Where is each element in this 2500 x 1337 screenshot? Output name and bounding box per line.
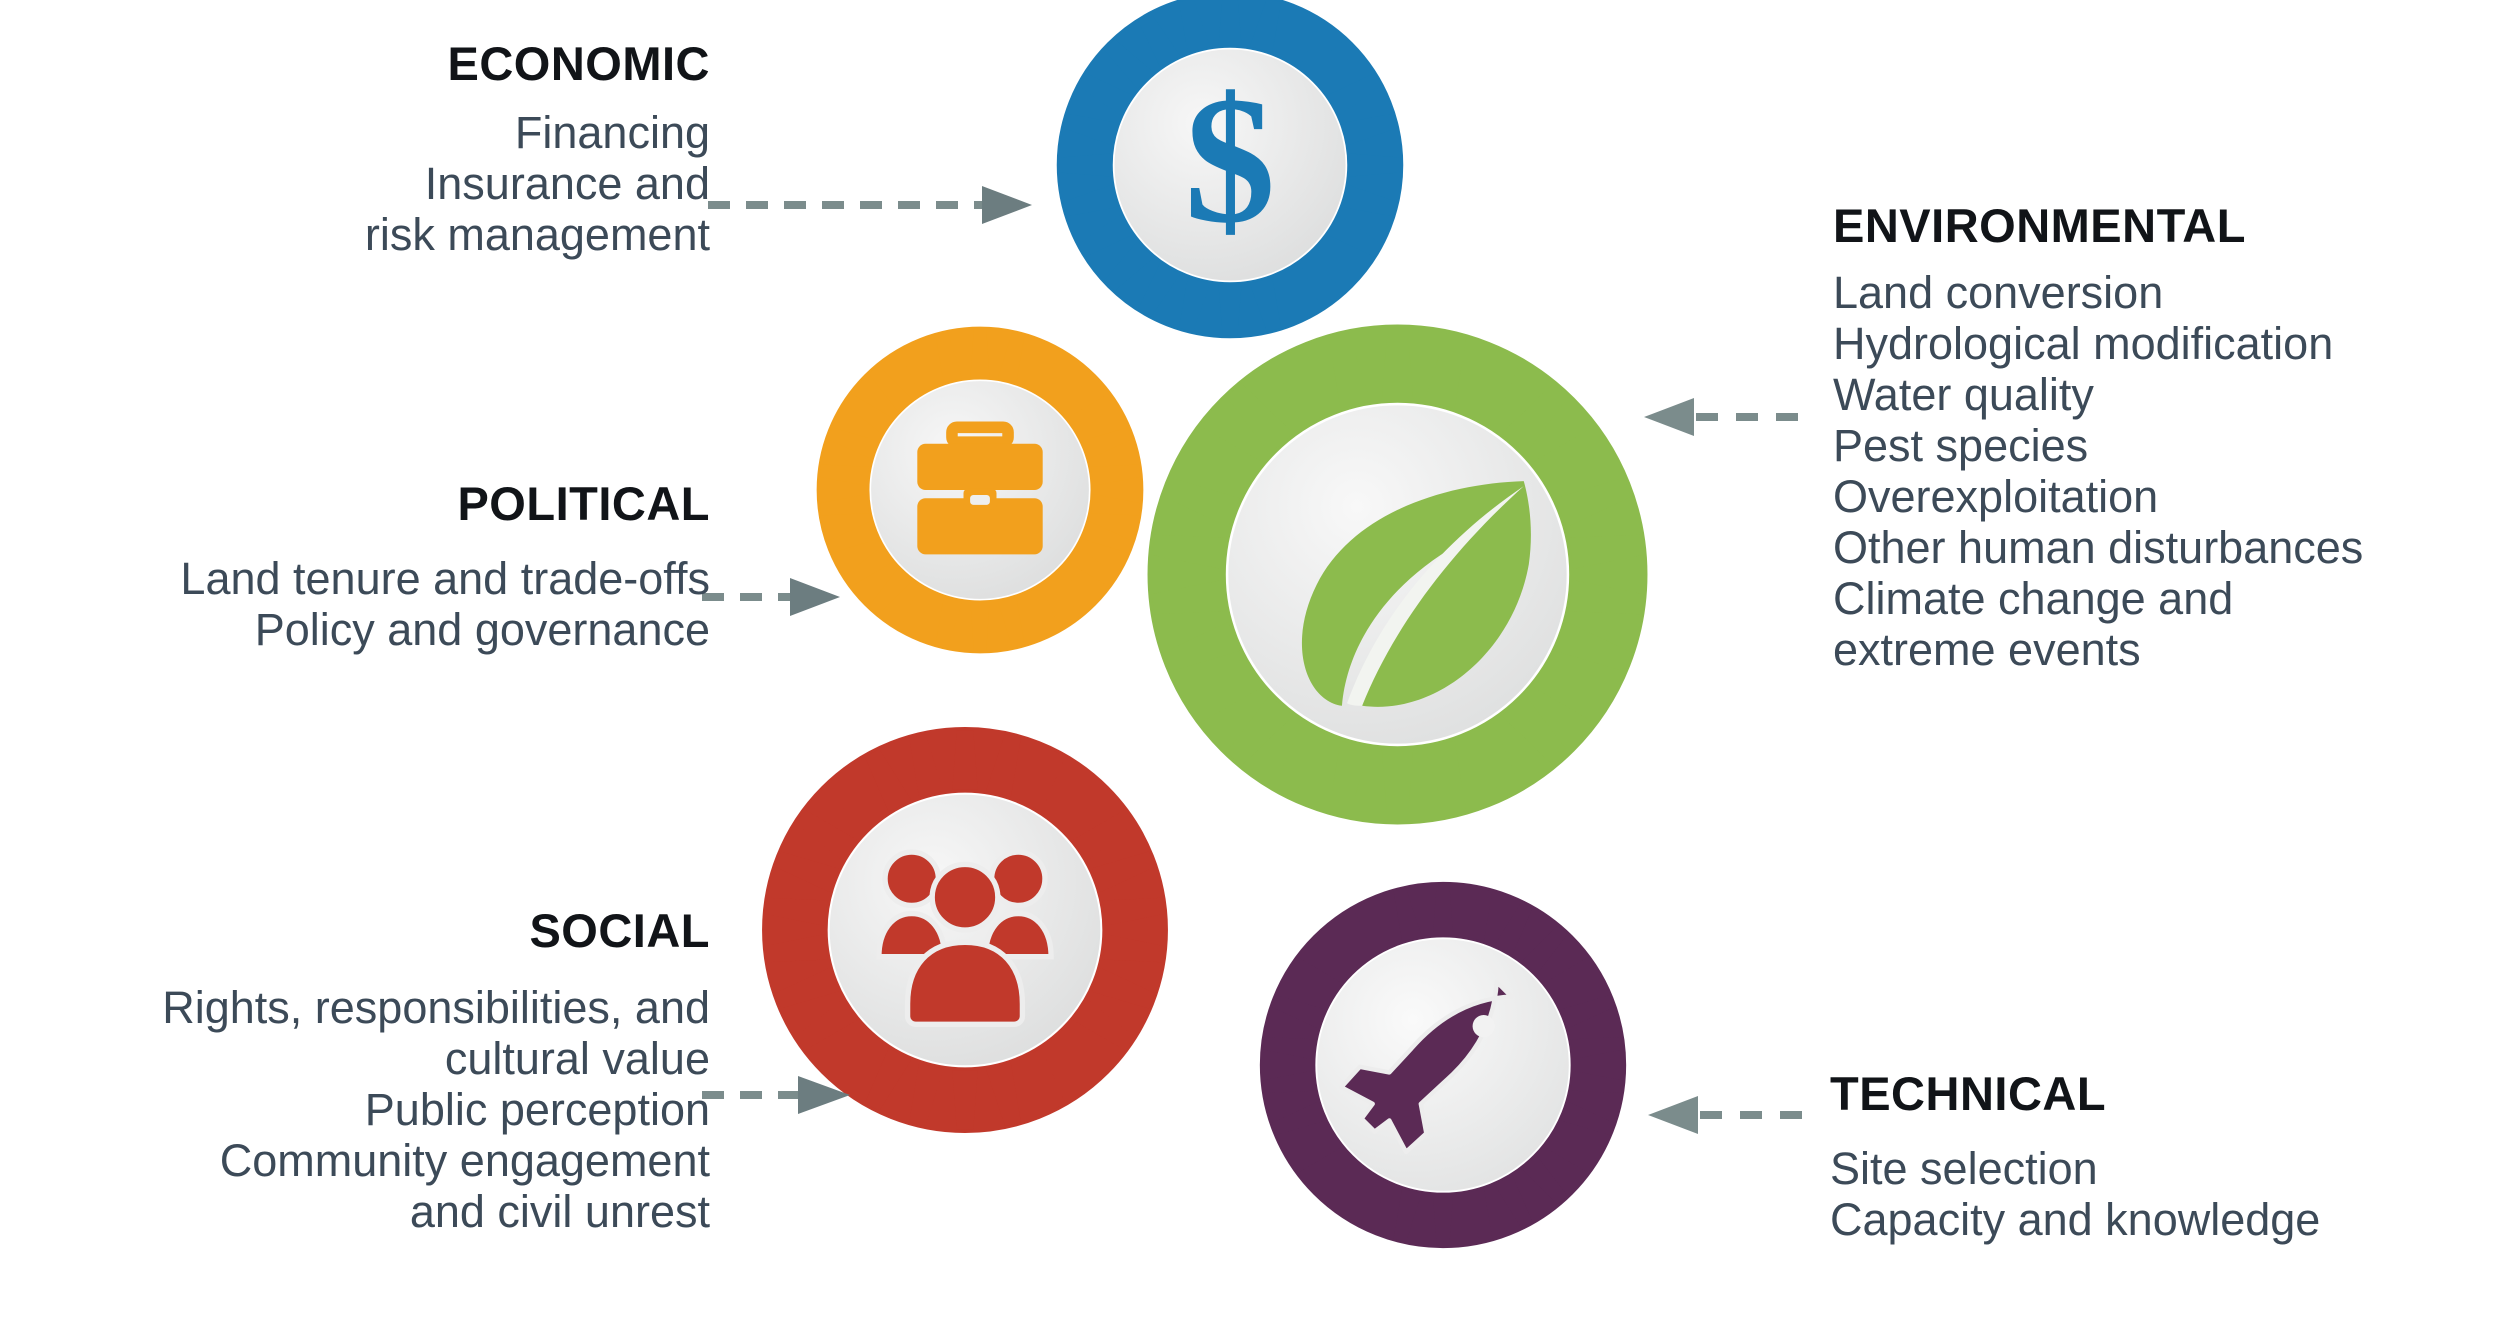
social-arrow	[700, 1070, 860, 1120]
political-arrow	[700, 572, 850, 622]
item-environmental-4: Overexploitation	[1833, 471, 2500, 522]
gear-economic-svg: $	[1055, 0, 1405, 340]
item-social-3: Community engagement	[0, 1135, 710, 1186]
gear-technical[interactable]	[1258, 880, 1628, 1250]
gear-economic[interactable]: $	[1055, 0, 1405, 340]
item-technical-0: Site selection	[1830, 1143, 2500, 1194]
arrow-head	[790, 578, 840, 616]
item-environmental-5: Other human disturbances	[1833, 522, 2500, 573]
label-block-technical: TECHNICAL Site selection Capacity and kn…	[1830, 1068, 2500, 1245]
label-block-social: SOCIAL Rights, responsibilities, and cul…	[0, 905, 710, 1237]
gear-technical-svg	[1258, 880, 1628, 1250]
item-environmental-0: Land conversion	[1833, 267, 2500, 318]
label-block-political: POLITICAL Land tenure and trade-offs Pol…	[20, 478, 710, 655]
dollar-icon: $	[1185, 60, 1276, 261]
item-environmental-7: extreme events	[1833, 624, 2500, 675]
item-social-4: and civil unrest	[0, 1186, 710, 1237]
gear-environmental-svg	[1145, 322, 1650, 827]
item-social-1: cultural value	[0, 1033, 710, 1084]
gear-environmental[interactable]	[1145, 322, 1650, 827]
heading-economic: ECONOMIC	[140, 38, 710, 91]
technical-arrow	[1644, 1090, 1824, 1140]
item-political-0: Land tenure and trade-offs	[20, 553, 710, 604]
heading-technical: TECHNICAL	[1830, 1068, 2500, 1121]
heading-social: SOCIAL	[0, 905, 710, 958]
environmental-arrow	[1640, 392, 1820, 442]
arrow-head	[1644, 398, 1694, 436]
item-economic-2: risk management	[140, 209, 710, 260]
label-block-environmental: ENVIRONMENTAL Land conversion Hydrologic…	[1833, 200, 2500, 675]
item-environmental-1: Hydrological modification	[1833, 318, 2500, 369]
item-economic-0: Financing	[140, 107, 710, 158]
gear-political-svg	[815, 325, 1145, 655]
item-environmental-2: Water quality	[1833, 369, 2500, 420]
diagram-canvas: $	[0, 0, 2500, 1337]
item-environmental-3: Pest species	[1833, 420, 2500, 471]
economic-arrow	[706, 180, 1036, 230]
heading-political: POLITICAL	[20, 478, 710, 531]
item-environmental-6: Climate change and	[1833, 573, 2500, 624]
heading-environmental: ENVIRONMENTAL	[1833, 200, 2500, 253]
arrow-head	[1648, 1096, 1698, 1134]
item-social-0: Rights, responsibilities, and	[0, 982, 710, 1033]
gear-political[interactable]	[815, 325, 1145, 655]
arrow-head	[982, 186, 1032, 224]
item-social-2: Public perception	[0, 1084, 710, 1135]
arrow-head	[798, 1076, 850, 1114]
item-technical-1: Capacity and knowledge	[1830, 1194, 2500, 1245]
label-block-economic: ECONOMIC Financing Insurance and risk ma…	[140, 38, 710, 260]
item-political-1: Policy and governance	[20, 604, 710, 655]
item-economic-1: Insurance and	[140, 158, 710, 209]
